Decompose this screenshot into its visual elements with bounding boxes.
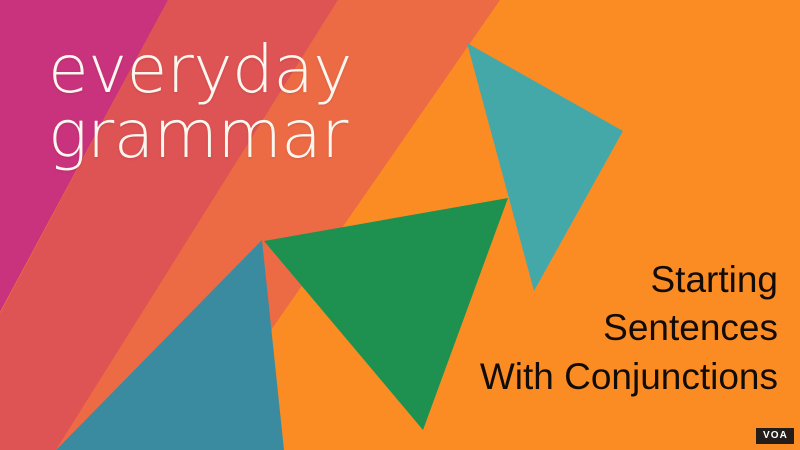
program-title-line-1: everyday: [48, 38, 352, 103]
episode-subtitle-line-1: Starting: [480, 256, 778, 305]
episode-subtitle-line-2: Sentences: [480, 304, 778, 353]
program-title-line-2: grammar: [48, 103, 352, 168]
thumbnail-canvas: everyday grammar Starting Sentences With…: [0, 0, 800, 450]
episode-subtitle: Starting Sentences With Conjunctions: [480, 256, 778, 402]
voa-watermark-logo: VOA: [756, 428, 794, 444]
program-title: everyday grammar: [48, 38, 352, 167]
episode-subtitle-line-3: With Conjunctions: [480, 353, 778, 402]
